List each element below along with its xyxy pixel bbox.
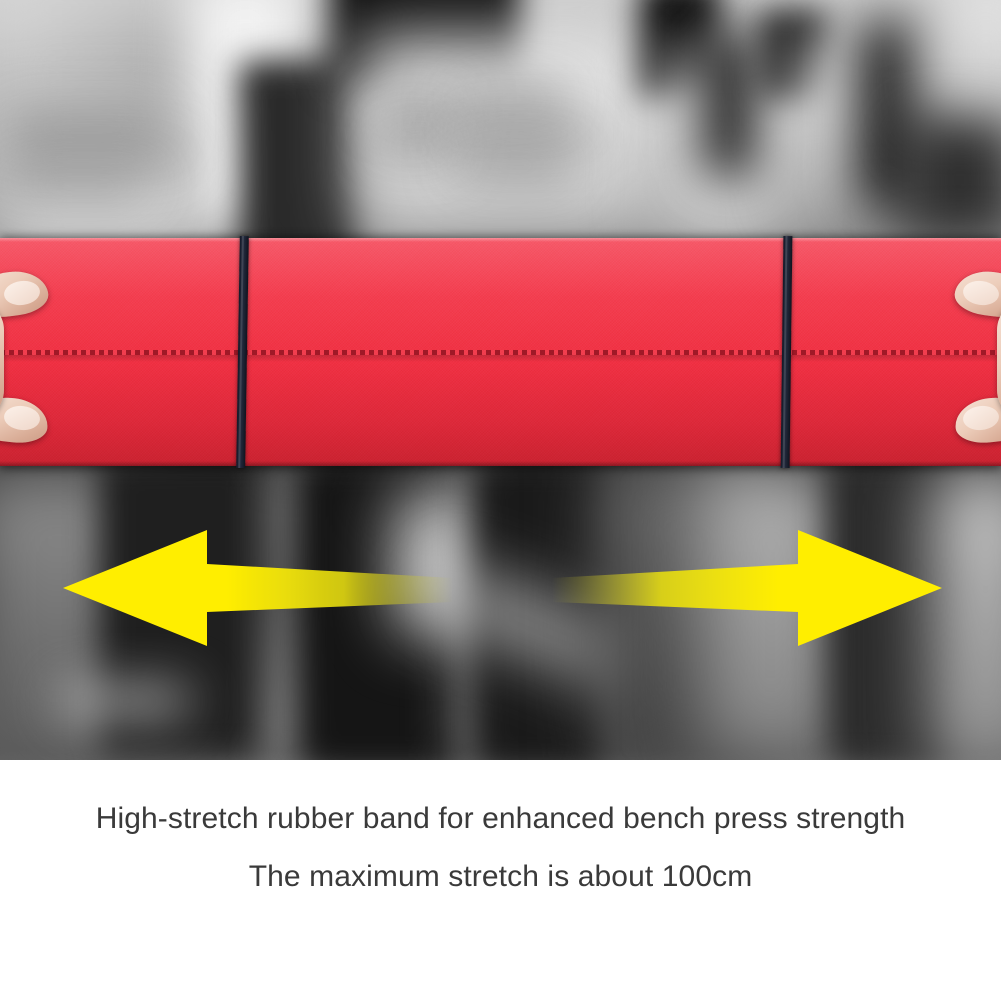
background-shape-label-left-3 [5, 178, 155, 194]
product-photo [0, 0, 1001, 760]
arrow-right-svg [550, 508, 950, 668]
band-seam-shadow [0, 355, 1001, 362]
background-shape-dark-corner [905, 120, 1001, 240]
background-shape-text-row-6 [455, 158, 575, 173]
product-image-stage: High-stretch rubber band for enhanced be… [0, 0, 1001, 1001]
caption-line-2: The maximum stretch is about 100cm [249, 862, 753, 892]
arrow-right-container [550, 508, 950, 668]
background-shape-corner-right [930, 0, 1001, 130]
background-shape-lower-highlight [60, 690, 190, 712]
background-shape-text-row-5 [455, 126, 595, 141]
band-bottom-edge [0, 461, 1001, 466]
arrow-right-icon [552, 530, 942, 646]
background-shape-label-left-2 [5, 150, 185, 166]
resistance-band [0, 238, 1001, 466]
band-top-edge [0, 238, 1001, 242]
arrow-left-container [55, 508, 455, 668]
background-shape-label-left [5, 118, 170, 136]
background-shape-text-row-4 [455, 92, 570, 108]
caption-line-1: High-stretch rubber band for enhanced be… [96, 804, 906, 834]
arrow-left-svg [55, 508, 455, 668]
background-shape-text-row-1 [378, 92, 463, 106]
background-shape-dark-right-2 [700, 30, 760, 180]
background-shape-text-row-3 [378, 144, 458, 157]
background-shape-text-row-2 [378, 118, 450, 131]
arrow-left-icon [63, 530, 453, 646]
caption-block: High-stretch rubber band for enhanced be… [0, 760, 1001, 1001]
